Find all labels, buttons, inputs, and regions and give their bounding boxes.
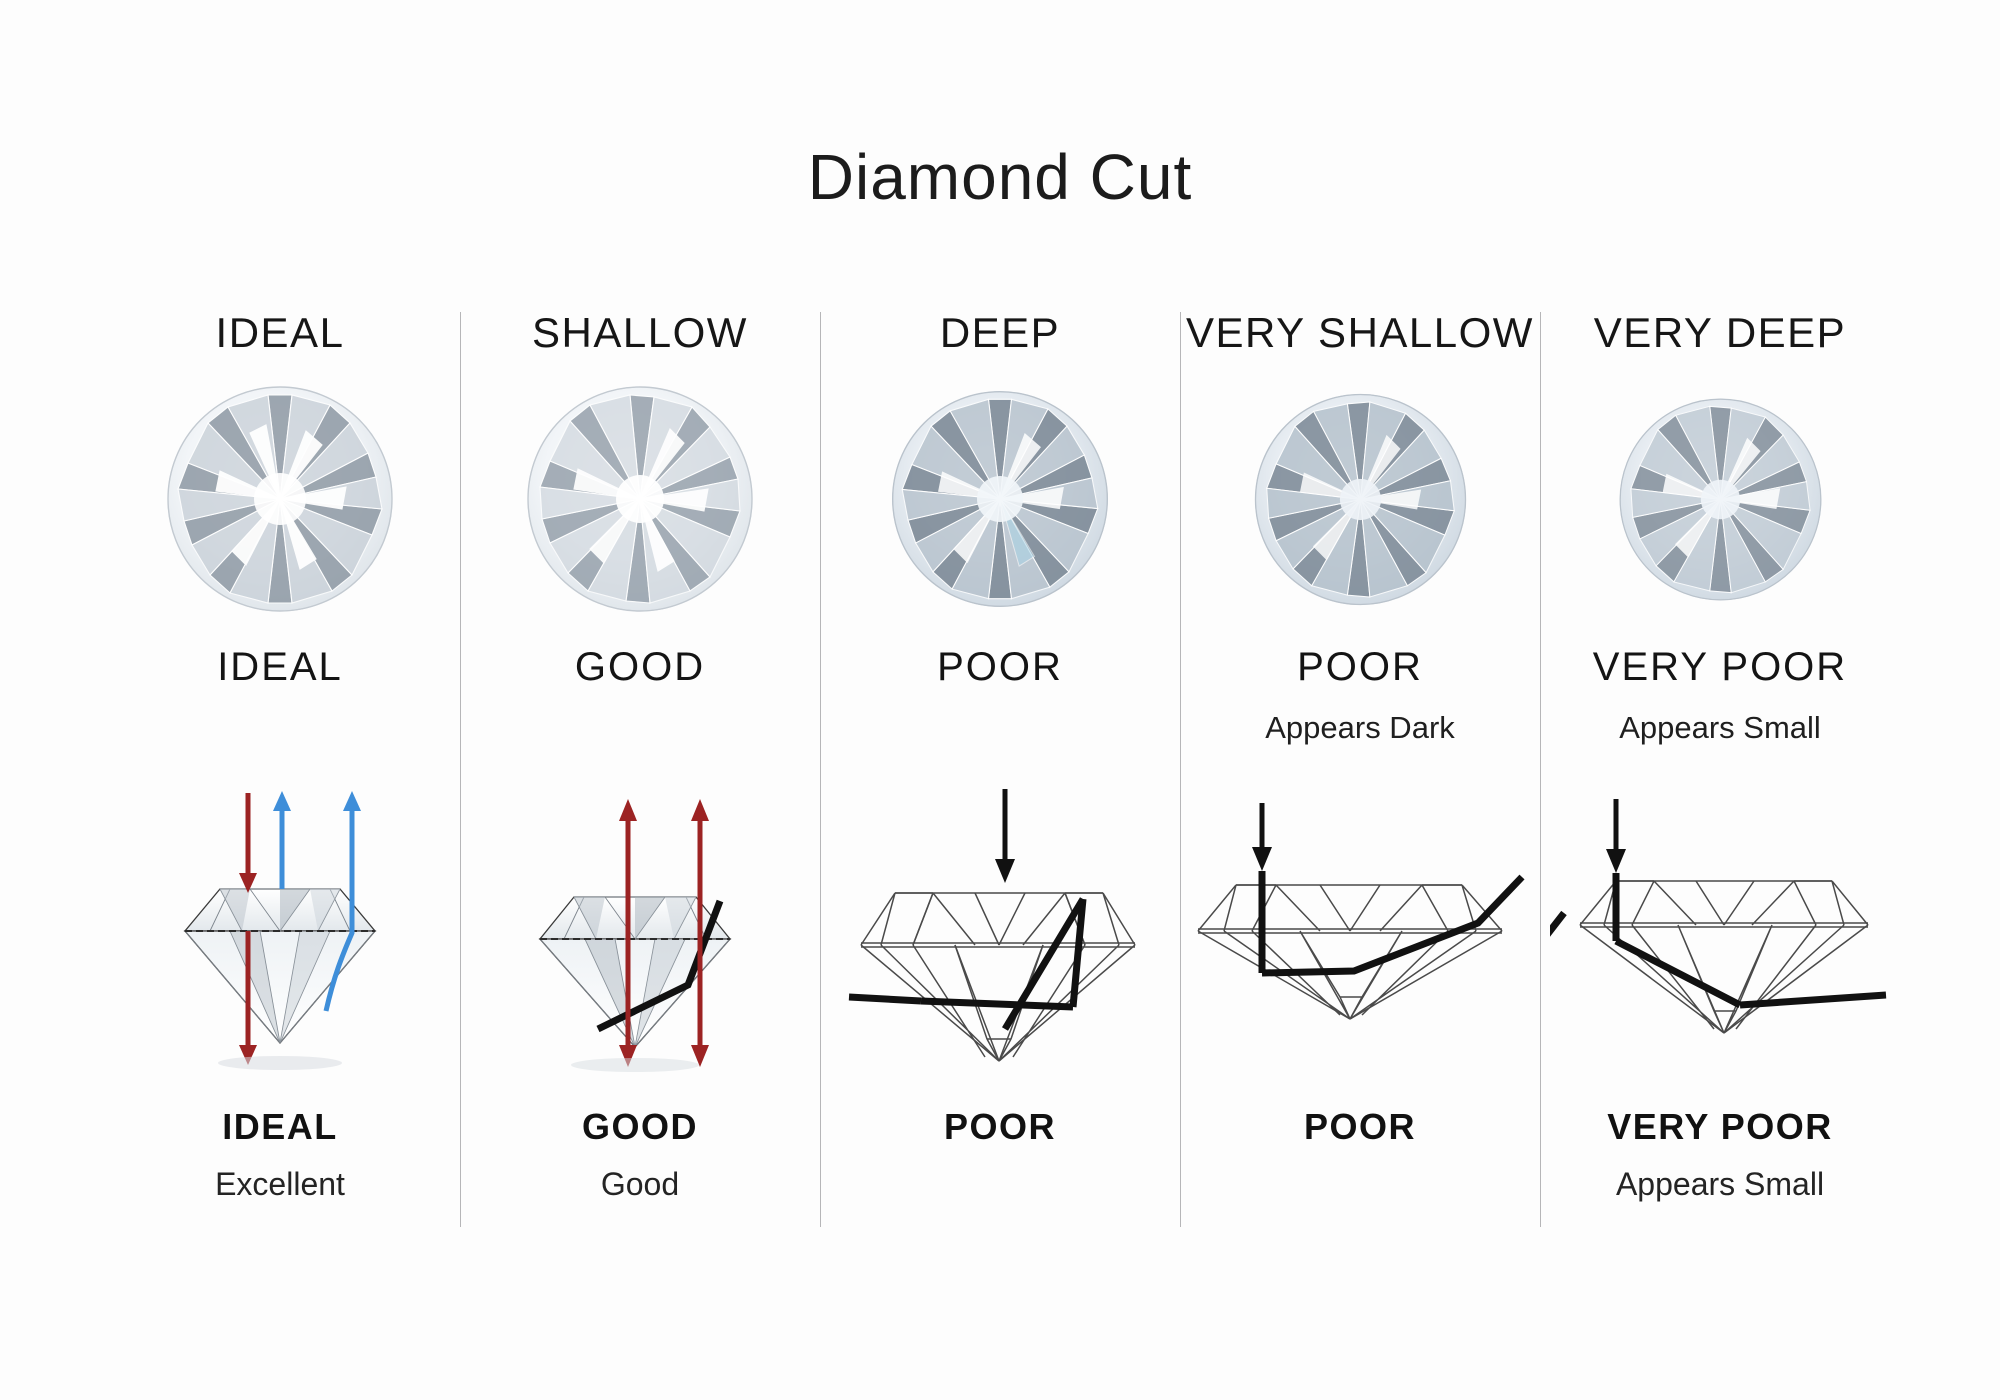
light-in-arrow-black <box>1606 799 1626 873</box>
side-diagram-ideal <box>100 766 460 1096</box>
light-leak-ray-black-stray <box>1550 913 1564 949</box>
column-divider <box>1180 312 1181 1227</box>
round-diamond-shallow <box>520 374 760 624</box>
subtitle-bottom: Good <box>601 1158 679 1210</box>
diamond-wireframe-icon <box>1550 781 1890 1081</box>
column-shallow: SHALLOW <box>460 300 820 1260</box>
light-in-arrow-black <box>995 789 1015 883</box>
diamond-wireframe-icon <box>1190 781 1530 1081</box>
round-brilliant-diamond-icon <box>885 384 1115 614</box>
grade-bottom: GOOD <box>582 1096 698 1158</box>
column-divider <box>460 312 461 1227</box>
page-title: Diamond Cut <box>0 140 2000 214</box>
side-diagram-shallow <box>460 766 820 1096</box>
light-leak-ray-black <box>1262 871 1522 973</box>
grade-bottom: POOR <box>944 1096 1056 1158</box>
light-in-arrow-black <box>1252 803 1272 871</box>
column-very-shallow: VERY SHALLOW <box>1180 300 1540 1260</box>
wireframe-outline <box>1198 885 1502 1019</box>
column-divider <box>1540 312 1541 1227</box>
light-in-arrow-red <box>239 793 257 893</box>
appearance-note: Appears Small <box>1619 710 1821 766</box>
diamond-side-profile-icon <box>480 771 800 1091</box>
grade-middle: POOR <box>937 624 1063 710</box>
comparison-columns: IDEAL <box>100 300 1900 1260</box>
light-return-arrow-blue-1 <box>273 791 291 889</box>
column-deep: DEEP <box>820 300 1180 1260</box>
grade-bottom: IDEAL <box>222 1096 338 1158</box>
wireframe-outline <box>861 893 1135 1061</box>
column-header: IDEAL <box>216 300 345 366</box>
appearance-note: Appears Dark <box>1265 710 1455 766</box>
grade-middle: POOR <box>1297 624 1423 710</box>
grade-middle: GOOD <box>575 624 705 710</box>
column-header: SHALLOW <box>532 300 748 366</box>
round-diamond-deep <box>885 374 1115 624</box>
diamond-cut-chart: Diamond Cut IDEAL <box>0 0 2000 1400</box>
column-very-deep: VERY DEEP <box>1540 300 1900 1260</box>
grade-middle: IDEAL <box>217 624 343 710</box>
grade-bottom: VERY POOR <box>1607 1096 1833 1158</box>
subtitle-bottom: Excellent <box>215 1158 345 1210</box>
round-diamond-ideal <box>160 374 400 624</box>
column-header: DEEP <box>940 300 1060 366</box>
subtitle-bottom: Appears Small <box>1616 1158 1824 1210</box>
grade-bottom: POOR <box>1304 1096 1416 1158</box>
round-brilliant-diamond-icon <box>1613 392 1828 607</box>
side-diagram-deep <box>820 766 1180 1096</box>
column-header: VERY SHALLOW <box>1186 300 1534 366</box>
column-divider <box>820 312 821 1227</box>
diamond-side-profile-icon <box>130 771 430 1091</box>
round-diamond-very-shallow <box>1248 374 1473 624</box>
grade-middle: VERY POOR <box>1593 624 1847 710</box>
column-ideal: IDEAL <box>100 300 460 1260</box>
wireframe-outline <box>1580 881 1868 1033</box>
diamond-wireframe-icon <box>835 771 1165 1091</box>
round-brilliant-diamond-icon <box>160 379 400 619</box>
round-brilliant-diamond-icon <box>1248 387 1473 612</box>
light-leak-ray-black <box>1616 873 1886 1005</box>
side-diagram-very-deep <box>1540 766 1900 1096</box>
column-header: VERY DEEP <box>1594 300 1846 366</box>
side-diagram-very-shallow <box>1180 766 1540 1096</box>
round-diamond-very-deep <box>1613 374 1828 624</box>
round-brilliant-diamond-icon <box>520 379 760 619</box>
